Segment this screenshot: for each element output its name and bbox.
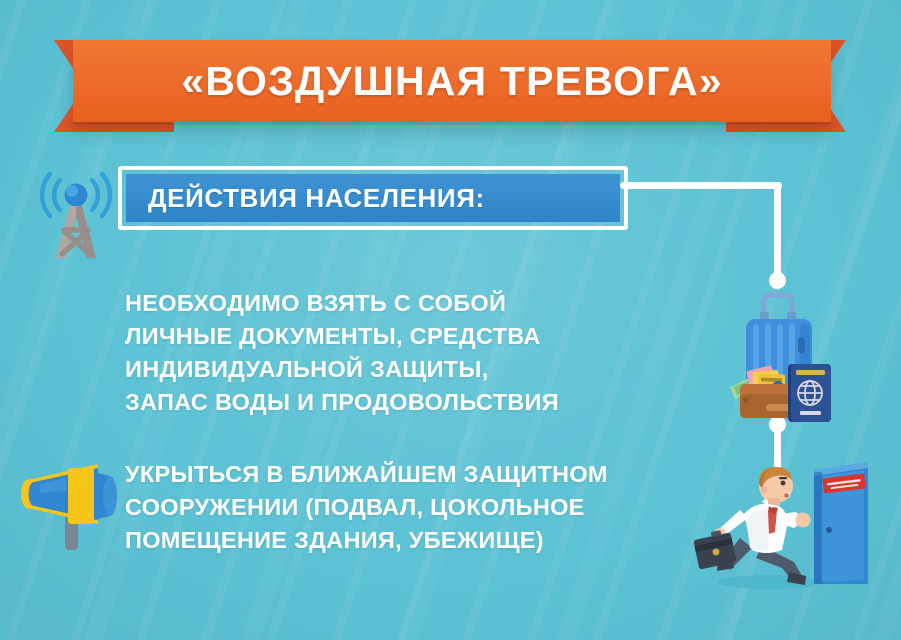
megaphone-icon [14,446,130,556]
infographic-poster: «ВОЗДУШНАЯ ТРЕВОГА» [0,0,901,640]
instruction-paragraph-2: УКРЫТЬСЯ В БЛИЖАЙШЕМ ЗАЩИТНОМ СООРУЖЕНИИ… [125,458,725,557]
instruction-paragraph-1: НЕОБХОДИМО ВЗЯТЬ С СОБОЙ ЛИЧНЫЕ ДОКУМЕНТ… [125,287,665,419]
connector-line-horizontal [620,182,782,189]
poster-title: «ВОЗДУШНАЯ ТРЕВОГА» [73,40,831,122]
title-ribbon: «ВОЗДУШНАЯ ТРЕВОГА» [0,24,901,140]
running-man-to-shelter-icon [690,452,880,597]
connector-line-vertical-upper [774,183,781,281]
radio-tower-icon [24,158,128,262]
subheading-plate: ДЕЙСТВИЯ НАСЕЛЕНИЯ: [126,174,620,222]
subheading-text: ДЕЙСТВИЯ НАСЕЛЕНИЯ: [148,183,485,214]
suitcase-documents-icon [712,292,847,422]
connector-dot-upper [769,272,786,289]
